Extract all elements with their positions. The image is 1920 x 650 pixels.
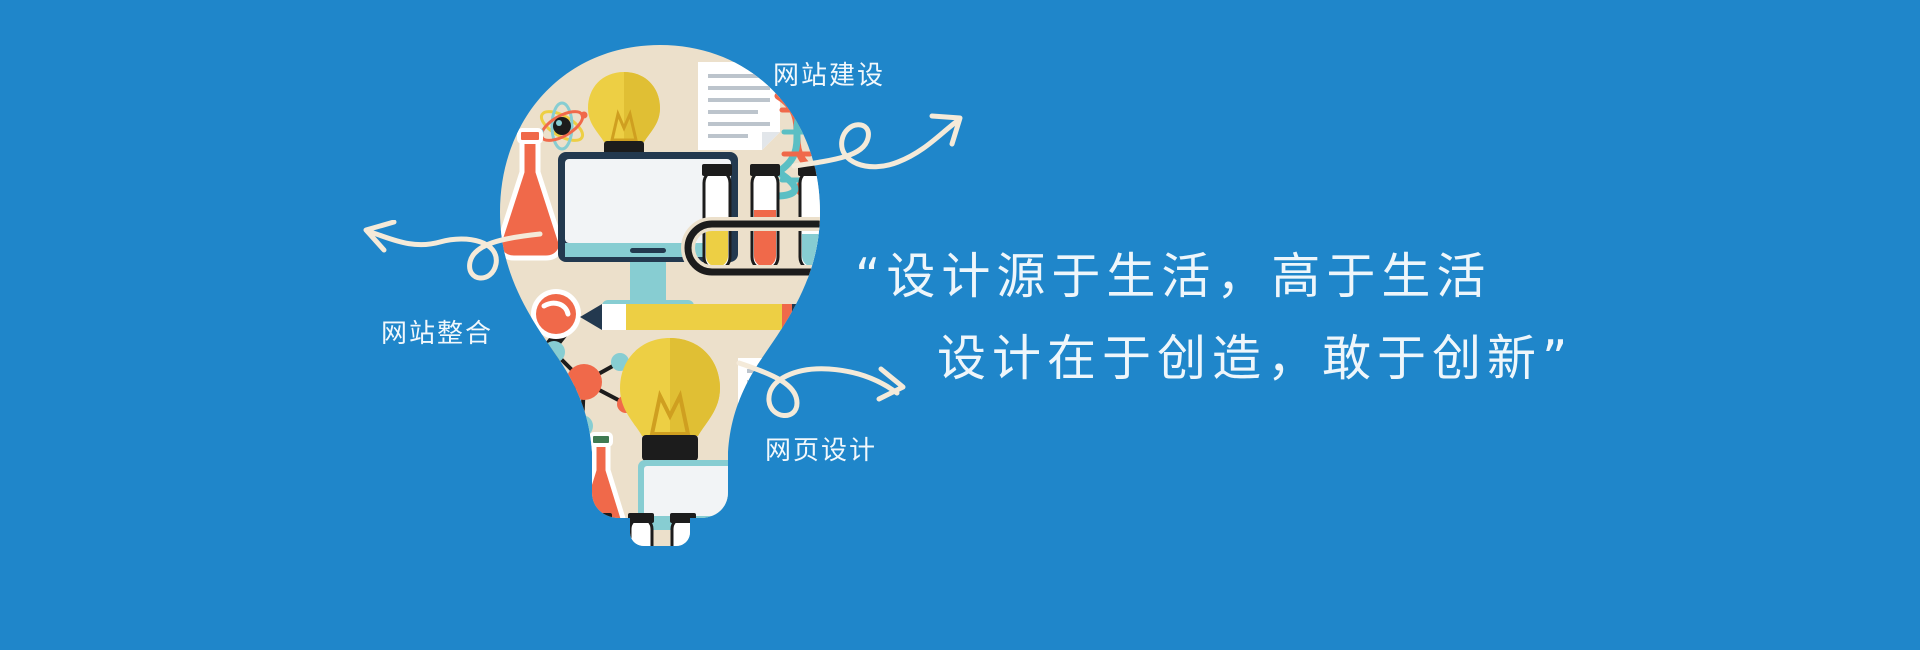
arrow-top-right xyxy=(790,90,990,204)
headline: “设计源于生活，高于生活 设计在于创造，敢于创新” xyxy=(855,236,1595,400)
banner-stage: 网站建设 网站整合 网页设计 “设计源于生活，高于生活 设计在于创造，敢于创新” xyxy=(0,0,1920,650)
callout-website-construction: 网站建设 xyxy=(773,55,885,92)
headline-line-1: “设计源于生活，高于生活 xyxy=(855,248,1491,305)
pencil-icon xyxy=(580,304,818,330)
document-icon xyxy=(698,62,780,150)
callout-web-design: 网页设计 xyxy=(765,430,877,467)
test-tubes-icon xyxy=(574,513,708,604)
monitor-icon xyxy=(638,460,750,564)
headline-line-2: 设计在于创造，敢于创新” xyxy=(855,318,1595,400)
magnifier-icon xyxy=(729,519,777,591)
callout-website-integration: 网站整合 xyxy=(381,313,493,350)
